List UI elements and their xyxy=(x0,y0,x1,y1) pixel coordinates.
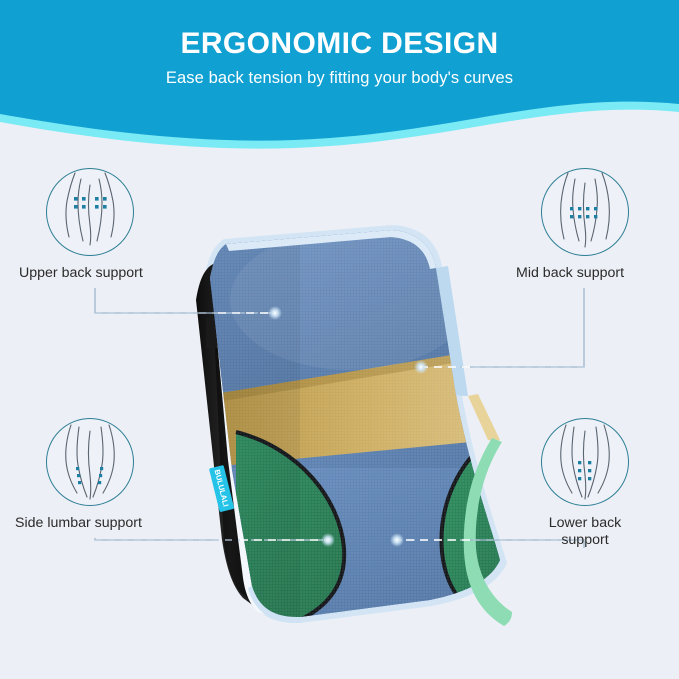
callout-mid-back[interactable]: Mid back support xyxy=(541,168,629,282)
callout-label-lower-back: Lower back support xyxy=(525,515,645,549)
marker-side-lumbar xyxy=(321,533,335,547)
back-upper-dots-icon xyxy=(46,168,134,256)
callout-label-mid-back: Mid back support xyxy=(516,265,629,282)
back-mid-dots-icon xyxy=(541,168,629,256)
brand-tag: BULULALI xyxy=(205,462,239,514)
marker-lower-back xyxy=(390,533,404,547)
infographic-canvas: ERGONOMIC DESIGN Ease back tension by fi… xyxy=(0,0,679,679)
callout-side-lumbar[interactable]: Side lumbar support xyxy=(46,418,142,532)
callout-upper-back[interactable]: Upper back support xyxy=(46,168,143,282)
back-side-dots-icon xyxy=(46,418,134,506)
marker-mid-back xyxy=(414,360,428,374)
marker-upper-back xyxy=(268,306,282,320)
dot-grid-left xyxy=(74,197,86,209)
connector-lines xyxy=(0,0,679,679)
dot-grid-right xyxy=(95,197,107,209)
connector-mid-back-elbow xyxy=(460,288,584,367)
callout-lower-back[interactable]: Lower back support xyxy=(541,418,645,549)
callout-label-side-lumbar: Side lumbar support xyxy=(15,515,142,532)
connector-upper-back-elbow xyxy=(95,288,218,313)
callout-label-upper-back: Upper back support xyxy=(19,265,143,282)
back-lower-dots-icon xyxy=(541,418,629,506)
dot-column-right xyxy=(98,467,103,484)
